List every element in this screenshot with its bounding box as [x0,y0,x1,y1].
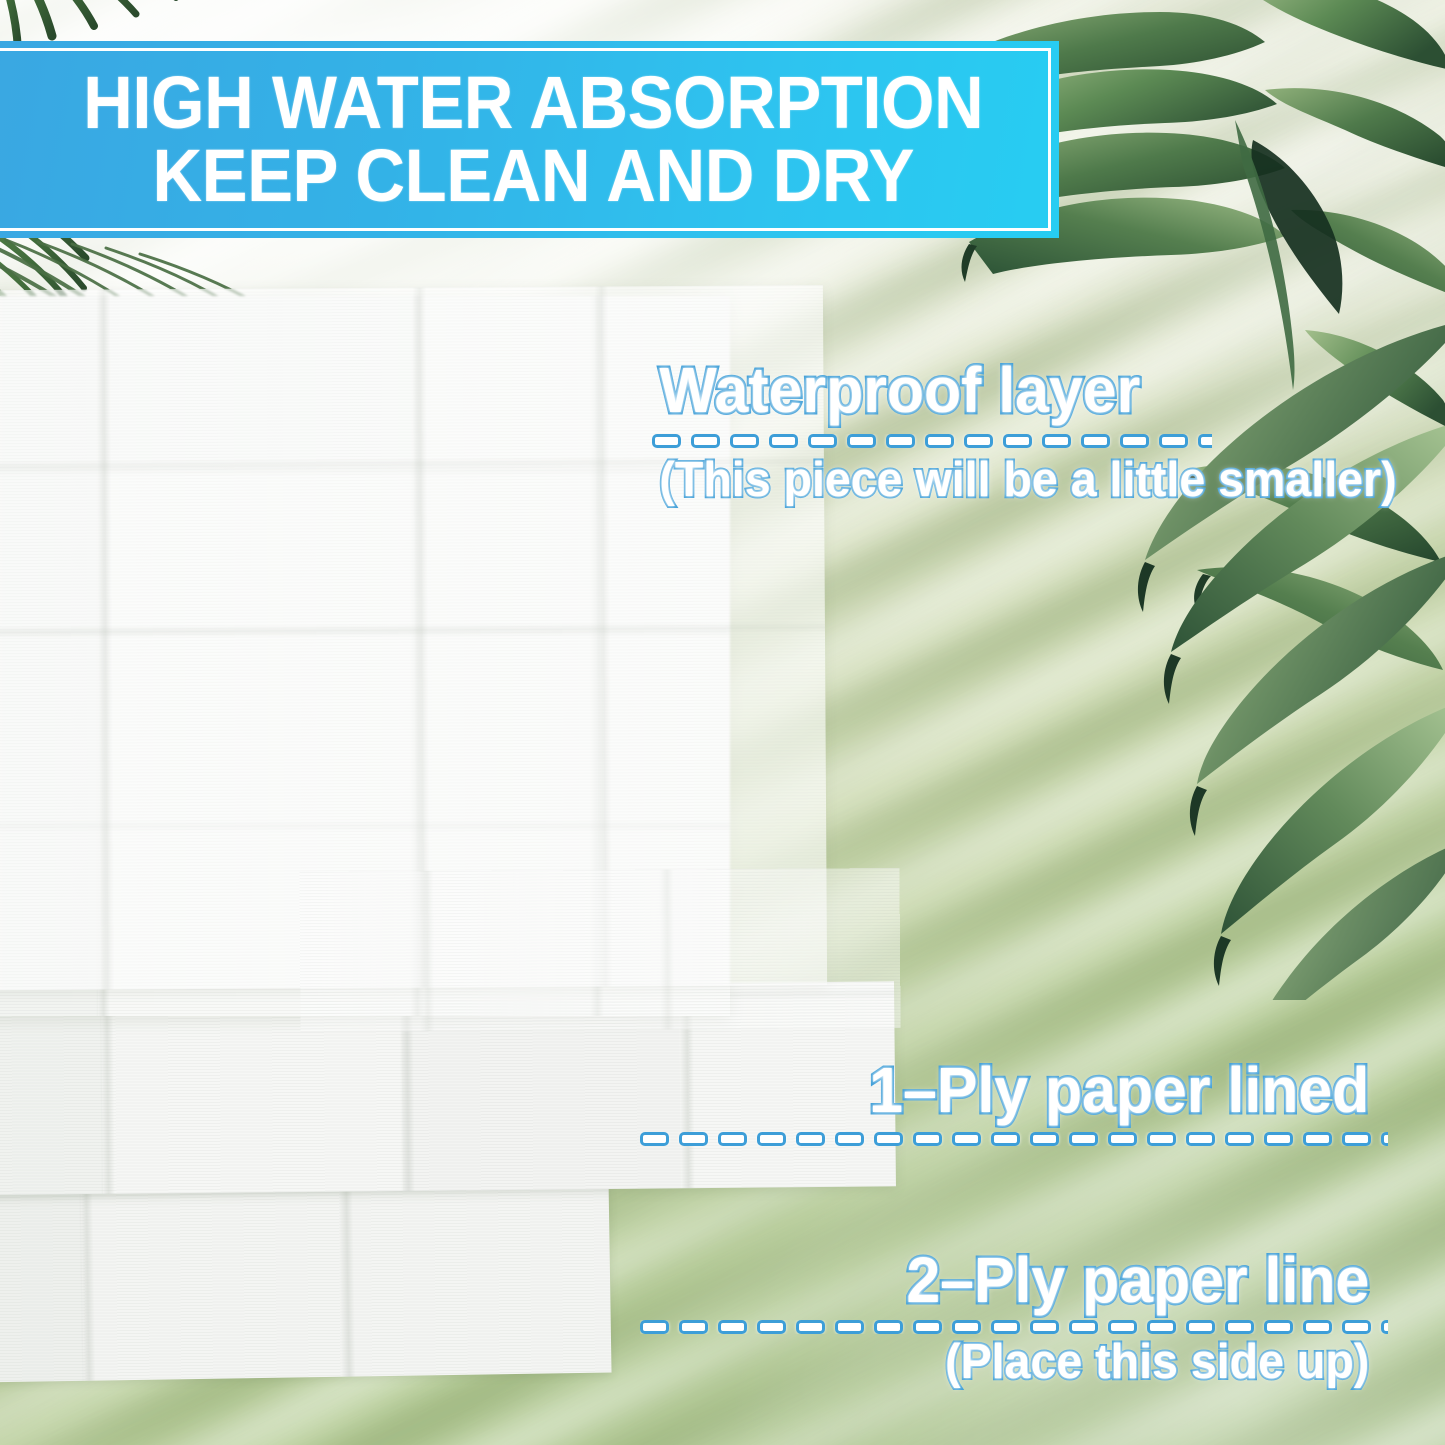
dash-segment [913,1320,942,1334]
dash-segment [1147,1132,1176,1146]
dash-segment [808,434,837,448]
dash-segment [1342,1132,1371,1146]
dash-segment [874,1132,903,1146]
dash-segment [679,1320,708,1334]
dash-segment [1003,434,1032,448]
dash-segment [1081,434,1110,448]
dash-segment [874,1320,903,1334]
callout-waterproof-title: Waterproof layer [659,358,1396,422]
dash-segment [1069,1320,1098,1334]
dash-segment [1225,1132,1254,1146]
dash-segment [1147,1320,1176,1334]
dash-segment [1381,1132,1388,1146]
dash-segment [835,1320,864,1334]
dash-segment [952,1132,981,1146]
callout-waterproof-dashed-line [652,434,1212,448]
dash-segment [925,434,954,448]
dash-segment [769,434,798,448]
dash-segment [652,434,681,448]
dash-segment [730,434,759,448]
dash-segment [1303,1132,1332,1146]
dash-segment [718,1132,747,1146]
dash-segment [796,1320,825,1334]
dash-segment [757,1132,786,1146]
dash-segment [847,434,876,448]
infographic-canvas: HIGH WATER ABSORPTION KEEP CLEAN AND DRY… [0,0,1445,1445]
callout-waterproof-note: (This piece will be a little smaller) [659,456,1396,505]
dash-segment [1381,1320,1388,1334]
dash-segment [964,434,993,448]
callout-waterproof-layer: Waterproof layer (This piece will be a l… [640,358,1416,505]
dash-segment [1042,434,1071,448]
dash-segment [1264,1132,1293,1146]
dash-segment [1186,1320,1215,1334]
callout-1ply-title: 1–Ply paper lined [659,1058,1370,1122]
dash-segment [796,1132,825,1146]
dash-segment [1030,1132,1059,1146]
dash-segment [1159,434,1188,448]
dash-segment [679,1132,708,1146]
dash-segment [718,1320,747,1334]
callout-2ply-note: (Place this side up) [659,1338,1370,1387]
dash-segment [640,1132,669,1146]
dash-segment [1198,434,1212,448]
dash-segment [952,1320,981,1334]
dash-segment [1342,1320,1371,1334]
dash-segment [1186,1132,1215,1146]
dash-segment [991,1320,1020,1334]
dash-segment [1108,1320,1137,1334]
dash-segment [1225,1320,1254,1334]
dash-segment [991,1132,1020,1146]
callout-1ply-paper: 1–Ply paper lined [640,1058,1388,1146]
callout-2ply-title: 2–Ply paper line [659,1248,1370,1312]
dash-segment [691,434,720,448]
banner-headline: HIGH WATER ABSORPTION KEEP CLEAN AND DRY [62,67,983,212]
dash-segment [886,434,915,448]
dash-segment [1030,1320,1059,1334]
callout-2ply-dashed-line [640,1320,1388,1334]
dash-segment [640,1320,669,1334]
headline-banner: HIGH WATER ABSORPTION KEEP CLEAN AND DRY [0,41,1059,238]
dash-segment [1264,1320,1293,1334]
dash-segment [757,1320,786,1334]
dash-segment [1108,1132,1137,1146]
waterproof-film-tail [299,868,900,1032]
callout-2ply-paper: 2–Ply paper line (Place this side up) [640,1248,1388,1387]
dash-segment [1120,434,1149,448]
dash-segment [1069,1132,1098,1146]
dash-segment [913,1132,942,1146]
paper-sheet-2ply [0,1173,612,1384]
callout-1ply-dashed-line [640,1132,1388,1146]
dash-segment [835,1132,864,1146]
dash-segment [1303,1320,1332,1334]
